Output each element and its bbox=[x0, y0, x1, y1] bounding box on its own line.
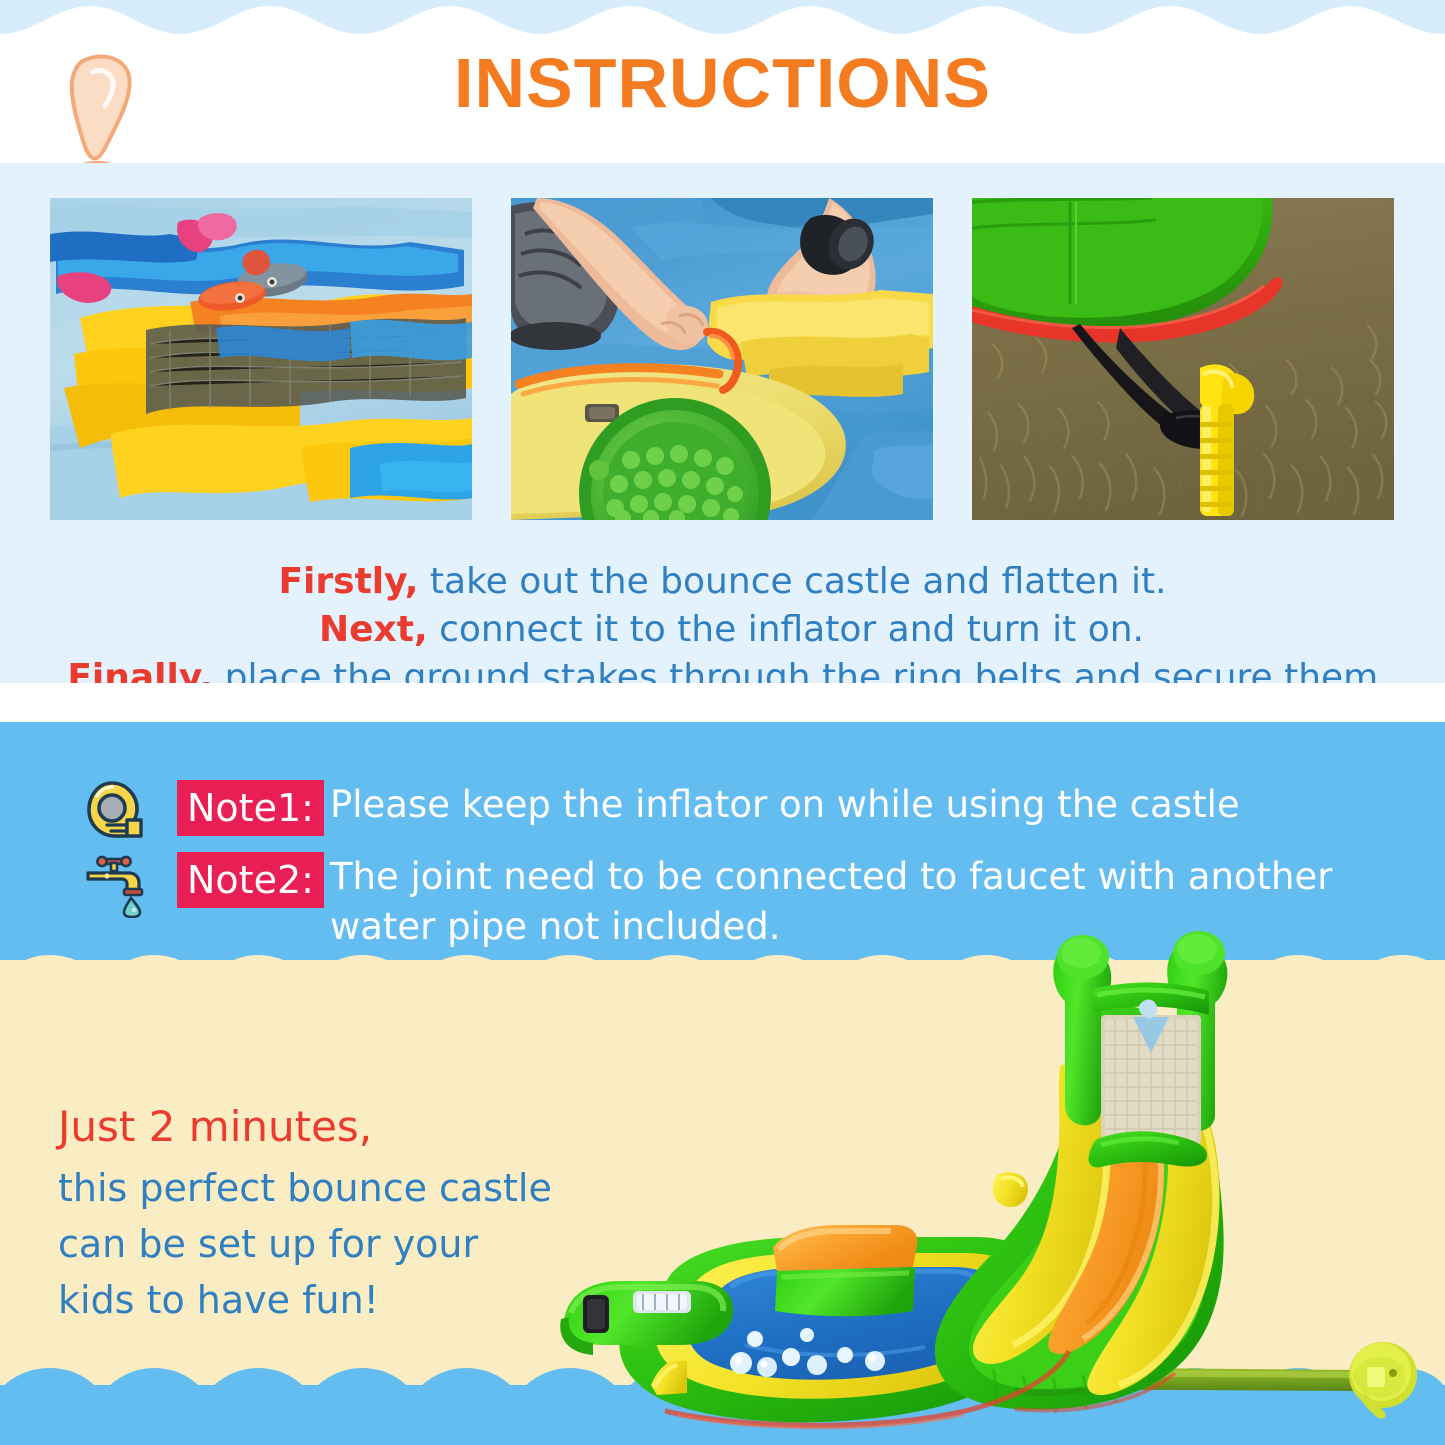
note-tag: Note2: bbox=[177, 852, 324, 908]
step-keyword-2: Next, bbox=[319, 609, 428, 650]
note-text: Please keep the inflator on while using … bbox=[330, 780, 1240, 830]
photo-deflated-castle bbox=[50, 198, 472, 520]
instructions-page: INSTRUCTIONS bbox=[0, 0, 1445, 1445]
notes-wave-divider bbox=[0, 722, 1445, 770]
step-line-1: Firstly, take out the bounce castle and … bbox=[0, 558, 1445, 606]
tape-measure-icon bbox=[85, 780, 147, 846]
photo-ground-stake bbox=[972, 198, 1394, 520]
step-body-1: take out the bounce castle and flatten i… bbox=[418, 561, 1166, 602]
note-row: Note1: Please keep the inflator on while… bbox=[85, 780, 1415, 846]
photos-section: Firstly, take out the bounce castle and … bbox=[0, 163, 1445, 683]
steps-text: Firstly, take out the bounce castle and … bbox=[0, 558, 1445, 702]
step-line-2: Next, connect it to the inflator and tur… bbox=[0, 606, 1445, 654]
note-tag: Note1: bbox=[177, 780, 324, 836]
page-title: INSTRUCTIONS bbox=[0, 48, 1445, 118]
faucet-water-drop-icon bbox=[85, 852, 147, 918]
product-image-water-slide bbox=[545, 915, 1445, 1445]
photo-connect-inflator bbox=[511, 198, 933, 520]
step-keyword-1: Firstly, bbox=[278, 561, 418, 602]
step-body-2: connect it to the inflator and turn it o… bbox=[428, 609, 1144, 650]
